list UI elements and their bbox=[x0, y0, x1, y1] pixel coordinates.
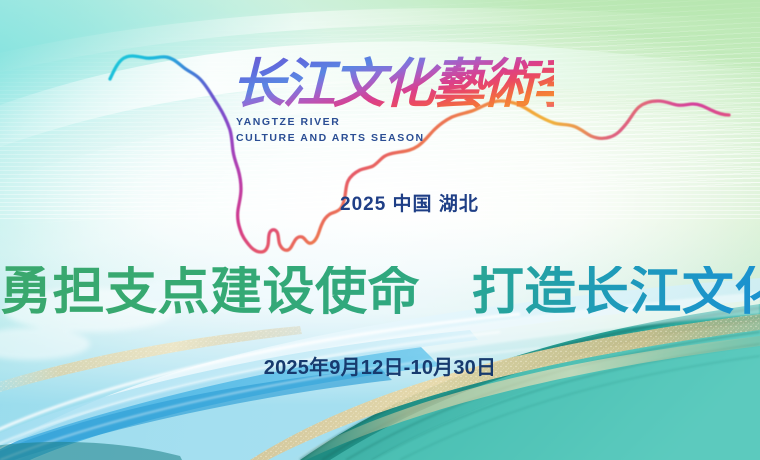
headline-segment-two: 打造长江文化高地 bbox=[472, 266, 760, 318]
event-year-location: 2025 中国 湖北 bbox=[340, 189, 479, 216]
headline-segment-one: 勇担支点建设使命 bbox=[0, 266, 420, 318]
english-title-line2: CULTURE AND ARTS SEASON bbox=[236, 132, 425, 144]
page-title: 勇担支点建设使命 打造长江文化高地 bbox=[0, 266, 760, 318]
english-title-line1: YANGTZE RIVER bbox=[236, 116, 340, 128]
calligraphy-logotype: 长江文化藝術季 bbox=[232, 44, 554, 120]
calligraphy-text: 长江文化藝術季 bbox=[232, 53, 554, 115]
event-date-range: 2025年9月12日-10月30日 bbox=[0, 351, 760, 380]
event-poster: 长江文化藝術季 YANGTZE RIVER CULTURE AND ARTS S… bbox=[0, 0, 760, 460]
